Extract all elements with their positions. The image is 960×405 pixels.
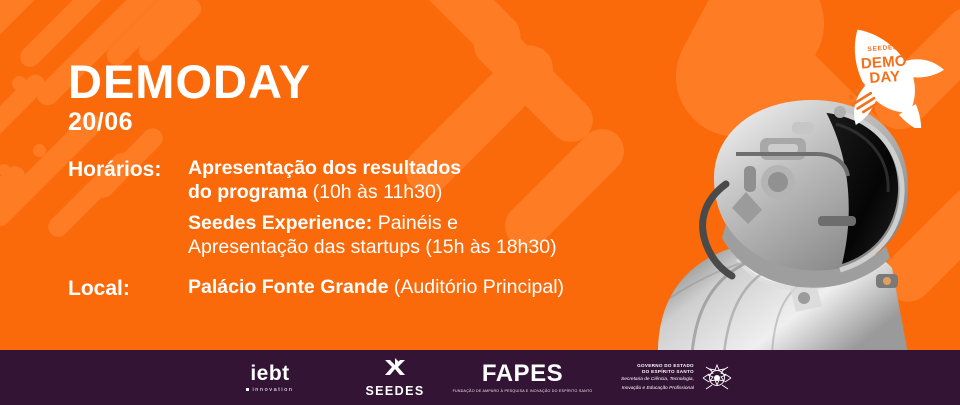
iebt-tagline-text: innovation [252, 387, 293, 393]
iebt-tagline: innovation [246, 387, 293, 393]
seedes-logo: SEEDES [340, 358, 450, 398]
seedes-wordmark: SEEDES [365, 385, 424, 398]
governo-espirito-santo-logo: GOVERNO DO ESTADO DO ESPÍRITO SANTO Secr… [595, 361, 760, 395]
location-venue: Palácio Fonte Grande [188, 276, 388, 298]
location-value: Palácio Fonte Grande (Auditório Principa… [188, 276, 564, 300]
event-date: 20/06 [68, 110, 133, 135]
schedule-entry-2-line1: Painéis e [378, 212, 458, 234]
schedule-entry-2-title: Seedes Experience: [188, 212, 372, 234]
location-row: Local: Palácio Fonte Grande (Auditório P… [68, 276, 564, 302]
schedule-entry-1-time: (10h às 11h30) [313, 181, 443, 203]
schedule-entry-1-line1: Apresentação dos resultados [188, 157, 461, 179]
iebt-wordmark: iebt [250, 363, 289, 384]
gov-line-4: Inovação e Educação Profissional [621, 386, 694, 392]
gov-line-3: Secretaria de Ciência, Tecnologia, [621, 377, 694, 383]
iebt-innovation-logo: iebt innovation [200, 363, 340, 393]
gov-line-2: DO ESPÍRITO SANTO [621, 369, 694, 375]
sponsor-logo-bar: iebt innovation SEEDES FAPES FUNDAÇÃO DE… [0, 350, 960, 405]
content-area: DEMODAY 20/06 Horários: Apresentação dos… [0, 0, 660, 350]
schedule-entry-2-line2: Apresentação das startups (15h às 18h30) [188, 236, 557, 258]
schedule-row: Horários: Apresentação dos resultados do… [68, 157, 461, 205]
seedes-x-icon [382, 358, 408, 383]
iebt-square-icon [246, 388, 249, 391]
location-label: Local: [68, 276, 188, 302]
brasao-crest-icon [700, 361, 734, 395]
schedule-entry-1-line2: do programa [188, 181, 307, 203]
fapes-tagline: FUNDAÇÃO DE AMPARO À PESQUISA E INOVAÇÃO… [453, 389, 593, 393]
fapes-logo: FAPES FUNDAÇÃO DE AMPARO À PESQUISA E IN… [450, 362, 595, 393]
gov-text-block: GOVERNO DO ESTADO DO ESPÍRITO SANTO Secr… [621, 363, 694, 392]
page-title: DEMODAY [68, 58, 311, 105]
schedule-label: Horários: [68, 157, 188, 183]
demoday-banner: SEEDES DEMO DAY DEMODAY 20/06 Horários: … [0, 0, 960, 405]
location-detail: (Auditório Principal) [394, 276, 564, 298]
seedes-demo-day-rocket-badge: SEEDES DEMO DAY [820, 16, 948, 128]
fapes-wordmark: FAPES [482, 362, 563, 386]
astronaut-photo [640, 92, 960, 354]
schedule-entry-1: Apresentação dos resultados do programa … [188, 157, 461, 205]
schedule-entry-2: Seedes Experience: Painéis e Apresentaçã… [188, 212, 557, 260]
